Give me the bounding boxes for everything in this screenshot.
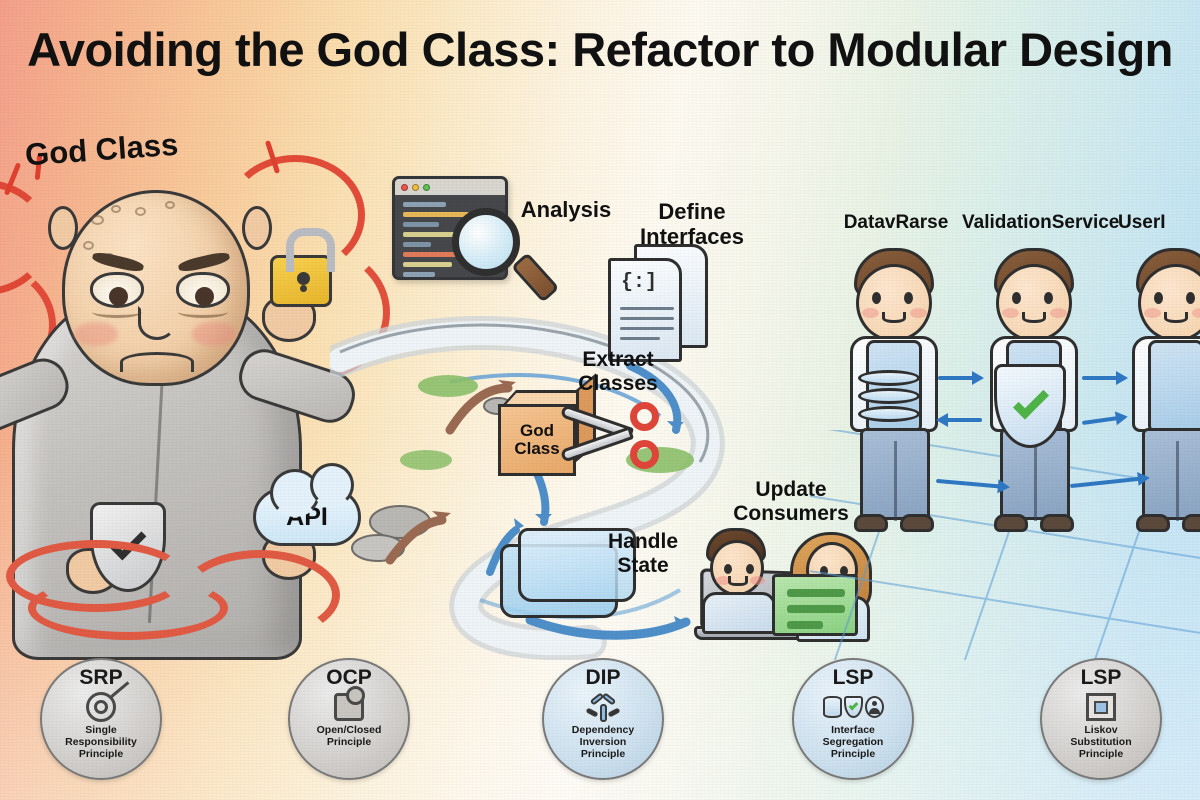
handle-state-line1: Handle xyxy=(588,530,698,554)
fork-arrows-icon xyxy=(587,690,619,724)
target-icon xyxy=(86,690,116,724)
minimize-dot xyxy=(412,184,419,191)
step-label-analysis: Analysis xyxy=(506,198,626,223)
badge-abbr: LSP xyxy=(833,667,874,688)
window-titlebar xyxy=(395,179,505,195)
modular-classes-panel: DatavRarse ValidationService UserI xyxy=(820,200,1200,660)
god-class-eye-bag xyxy=(178,306,228,318)
puzzle-piece-icon xyxy=(334,690,364,724)
box-label-line2: Class xyxy=(514,439,559,458)
god-class-frown xyxy=(120,352,194,372)
class-actor-database xyxy=(834,248,954,548)
principle-badge-srp[interactable]: SRP Single Responsibility Principle xyxy=(40,658,162,780)
extract-classes-line1: Extract xyxy=(558,348,678,372)
badge-name: Single Responsibility Principle xyxy=(65,725,137,760)
class-actor-user xyxy=(1116,248,1200,548)
box-label-line1: God xyxy=(520,421,554,440)
person-boy xyxy=(700,528,780,618)
class-label-validation: ValidationService xyxy=(962,212,1112,233)
badge-abbr: DIP xyxy=(585,667,620,688)
badge-name-line2: Segregation xyxy=(823,737,884,749)
maximize-dot xyxy=(423,184,430,191)
database-shield-user-icon xyxy=(823,690,884,724)
badge-name: Liskov Substitution Principle xyxy=(1070,725,1131,760)
god-class-ear xyxy=(48,206,78,250)
principle-badge-ocp[interactable]: OCP Open/Closed Principle xyxy=(288,658,410,780)
scissors-icon xyxy=(560,400,664,476)
handle-state-line2: State xyxy=(588,554,698,578)
badge-name-line1: Interface xyxy=(823,725,884,737)
step-label-handle-state: Handle State xyxy=(588,530,698,577)
connector-arrow xyxy=(1082,376,1126,380)
step-label-extract-classes: Extract Classes xyxy=(558,348,678,395)
badge-name-line2: Principle xyxy=(317,737,382,749)
connector-arrow xyxy=(938,376,982,380)
god-class-eye-bag xyxy=(92,306,142,318)
badge-name-line2: Responsibility xyxy=(65,737,137,749)
principle-badge-dip[interactable]: DIP Dependency Inversion Principle xyxy=(542,658,664,780)
principle-badge-isp[interactable]: LSP Interface Segregation Principle xyxy=(792,658,914,780)
padlock-icon xyxy=(270,255,332,307)
connector-arrow xyxy=(938,418,982,422)
page-title: Avoiding the God Class: Refactor to Modu… xyxy=(0,22,1200,77)
badge-name-line1: Single xyxy=(65,725,137,737)
database-icon xyxy=(858,370,920,428)
brace-glyph: {:] xyxy=(621,271,657,294)
badge-name-line3: Principle xyxy=(1070,749,1131,761)
god-class-label: God Class xyxy=(24,127,179,174)
shield-check-icon xyxy=(844,696,863,718)
principle-badge-lsp[interactable]: LSP Liskov Substitution Principle xyxy=(1040,658,1162,780)
define-interfaces-line2: Interfaces xyxy=(622,225,762,250)
badge-name-line1: Liskov xyxy=(1070,725,1131,737)
badge-abbr: SRP xyxy=(79,667,122,688)
close-dot xyxy=(401,184,408,191)
badge-abbr: LSP xyxy=(1081,667,1122,688)
principles-row: SRP Single Responsibility Principle OCP … xyxy=(0,652,1200,792)
badge-name-line2: Inversion xyxy=(572,737,634,749)
badge-name-line1: Open/Closed xyxy=(317,725,382,737)
documents-icon: {:] xyxy=(608,252,692,362)
nested-squares-icon xyxy=(1086,690,1116,724)
badge-name-line2: Substitution xyxy=(1070,737,1131,749)
badge-name: Open/Closed Principle xyxy=(317,725,382,749)
god-class-nose xyxy=(138,306,176,340)
badge-name-line3: Principle xyxy=(572,749,634,761)
define-interfaces-line1: Define xyxy=(622,200,762,225)
api-cloud-label: API xyxy=(286,503,328,532)
badge-name: Dependency Inversion Principle xyxy=(572,725,634,760)
god-class-eye xyxy=(176,272,230,308)
database-icon xyxy=(823,696,842,718)
class-label-database: DatavRarse xyxy=(826,212,966,233)
badge-name: Interface Segregation Principle xyxy=(823,725,884,760)
user-icon xyxy=(865,696,884,718)
extract-classes-line2: Classes xyxy=(558,372,678,396)
god-class-eye xyxy=(90,272,144,308)
class-label-user: UserI xyxy=(1118,212,1200,233)
badge-name-line1: Dependency xyxy=(572,725,634,737)
god-class-cheek xyxy=(192,322,236,346)
god-class-ear xyxy=(242,206,272,250)
badge-name-line3: Principle xyxy=(823,749,884,761)
step-label-define-interfaces: Define Interfaces xyxy=(622,200,762,249)
tangled-cable xyxy=(180,550,340,640)
god-class-cheek xyxy=(74,322,118,346)
class-actor-validation xyxy=(974,248,1094,548)
badge-name-line3: Principle xyxy=(65,749,137,761)
badge-abbr: OCP xyxy=(326,667,372,688)
